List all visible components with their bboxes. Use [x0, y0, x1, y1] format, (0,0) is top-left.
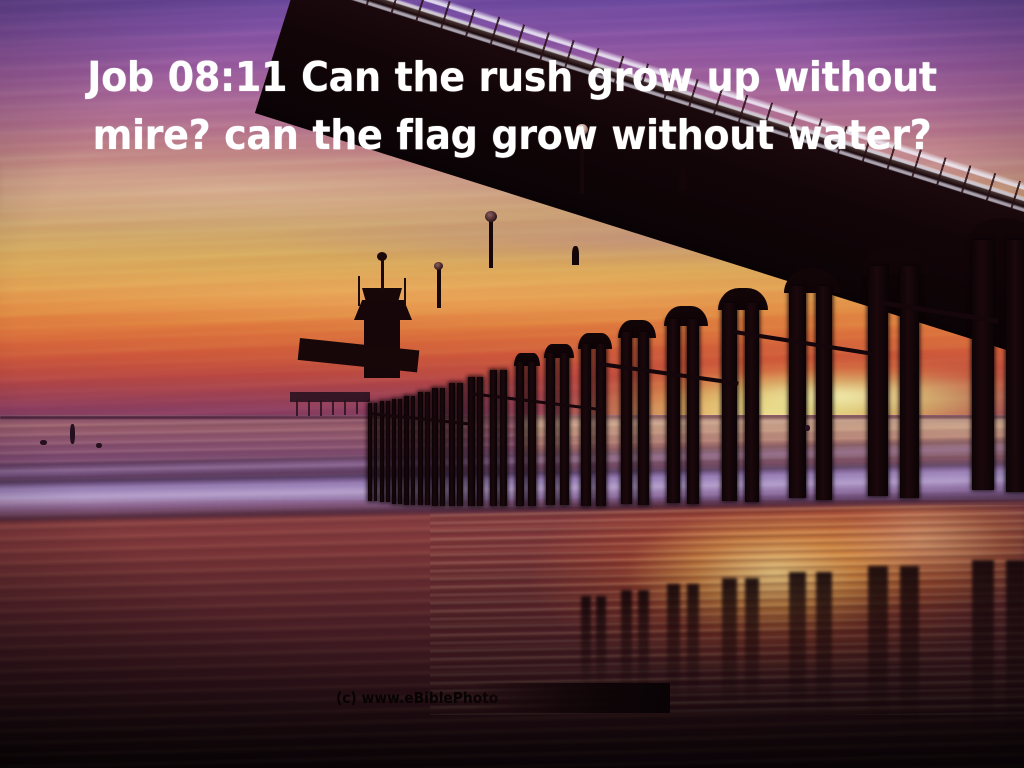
- tower-antenna: [358, 276, 360, 306]
- pier-piling: [449, 383, 455, 506]
- distant-pier-leg: [308, 400, 310, 416]
- pier-piling: [528, 362, 536, 506]
- distant-pier: [290, 392, 370, 402]
- person-silhouette: [679, 168, 687, 190]
- distant-pier-leg: [332, 400, 334, 415]
- piling-reflection: [722, 578, 737, 712]
- surfer-silhouette: [805, 425, 810, 431]
- pier-piling: [404, 396, 409, 505]
- pier-piling: [638, 332, 649, 505]
- pier-lamp-post: [437, 268, 441, 308]
- pier-lamp-head: [434, 262, 443, 270]
- pier-piling: [425, 392, 430, 505]
- pier-tower-beacon: [377, 252, 387, 261]
- copyright-watermark: (c) www.eBiblePhoto: [336, 689, 498, 707]
- piling-reflection: [900, 566, 919, 726]
- pier-lamp-head: [485, 211, 497, 222]
- pier-piling: [440, 388, 445, 506]
- pier-piling: [418, 392, 423, 505]
- pier-piling: [816, 286, 832, 500]
- pier-piling: [1006, 240, 1024, 492]
- pier-piling: [560, 353, 569, 505]
- pier-tower-mast: [381, 258, 384, 292]
- piling-reflection: [816, 572, 832, 718]
- pier-lamp-post: [489, 218, 493, 268]
- pier-piling: [687, 319, 699, 504]
- surfer-silhouette: [96, 443, 102, 448]
- verse-image-canvas: Job 08:11 Can the rush grow up without m…: [0, 0, 1024, 768]
- piling-reflection: [789, 572, 806, 718]
- piling-reflection: [667, 584, 680, 704]
- piling-reflection: [868, 566, 888, 726]
- pier-piling: [972, 240, 994, 490]
- piling-reflection: [596, 596, 606, 692]
- bible-verse-overlay: Job 08:11 Can the rush grow up without m…: [64, 48, 961, 164]
- pier-piling: [500, 370, 507, 506]
- tower-antenna: [404, 278, 406, 306]
- distant-pier-leg: [320, 400, 322, 416]
- surfboard-silhouette: [70, 424, 75, 444]
- piling-reflection: [687, 584, 699, 704]
- piling-reflection: [745, 578, 759, 712]
- pier-piling: [596, 344, 606, 506]
- pier-piling: [516, 362, 524, 506]
- pier-deck-far: [298, 338, 420, 372]
- pier-piling: [490, 370, 497, 506]
- pier-piling: [789, 286, 806, 498]
- pier-piling: [374, 403, 377, 501]
- piling-reflection: [621, 590, 632, 698]
- surfer-silhouette: [40, 440, 47, 445]
- distant-pier-leg: [356, 400, 358, 414]
- piling-reflection: [581, 596, 591, 692]
- pier-piling: [432, 388, 438, 506]
- piling-reflection: [1006, 560, 1024, 732]
- distant-pier-leg: [296, 400, 298, 416]
- pier-piling: [667, 319, 680, 503]
- distant-pier-leg: [344, 400, 346, 415]
- pier-piling: [621, 332, 632, 504]
- pier-piling: [411, 396, 415, 505]
- pier-piling: [581, 344, 591, 506]
- pier-piling: [900, 266, 919, 498]
- pier-piling: [457, 383, 463, 506]
- pier-piling: [368, 403, 372, 501]
- pier-piling: [546, 353, 555, 505]
- pier-piling: [468, 377, 475, 506]
- piling-reflection: [972, 560, 994, 730]
- person-silhouette: [572, 246, 579, 265]
- piling-reflection: [638, 590, 649, 698]
